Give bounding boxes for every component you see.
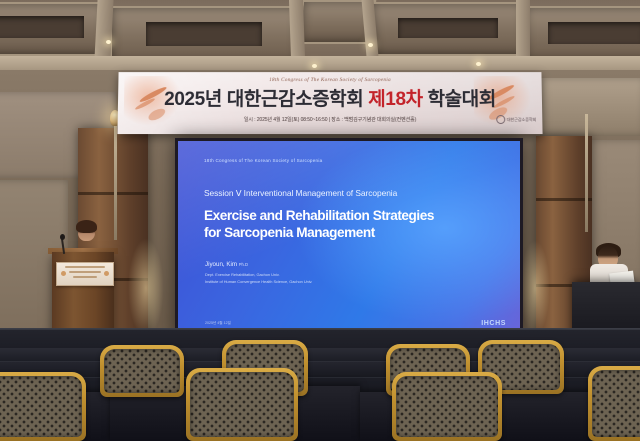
podium-sign [56,262,114,286]
chair [100,345,184,397]
banner-title-part1: 2025년 대한근감소증학회 [164,89,368,110]
chair [186,368,298,441]
presenter-degree: Ph.D [239,262,248,267]
speaker-hair [76,220,97,233]
banner-english-line: 18th Congress of The Korean Society of S… [118,77,541,83]
presenter-name: Jiyoun, Kim [205,261,237,268]
chair [392,372,502,441]
society-logo-label: 대한근감소증학회 [507,117,537,123]
conference-hall-photo: 18th Congress of The Korean Society of S… [0,0,640,441]
slide-title-line1: Exercise and Rehabilitation Strategies [204,207,502,224]
brochure-box [0,214,8,244]
presenter-affiliation-1: Dept. Exercise Rehabilitation, Gachon Un… [205,272,280,277]
projection-screen: 18th Congress of The Korean Society of S… [178,141,520,335]
event-banner: 18th Congress of The Korean Society of S… [117,72,542,134]
banner-title-highlight: 제18차 [368,89,427,110]
ceiling-downlight [476,62,481,66]
ceiling [0,0,640,74]
chair [0,372,86,441]
microphone-head [60,234,65,240]
ceiling-downlight [368,43,373,47]
sconce-pole [114,120,117,240]
slide-brand-logo: IHCHS [481,320,506,327]
presenter-affiliation-2: Institute of Human Convergence Health Sc… [205,279,312,284]
slide-header: 18th Congress of The Korean Society of S… [204,158,322,163]
slide-title: Exercise and Rehabilitation Strategies f… [204,207,502,242]
slide-session-label: Session Ⅴ Interventional Management of S… [204,188,397,198]
sconce-pole-right [585,114,588,232]
paper-stack [0,337,30,349]
society-logo: 대한근감소증학회 [496,115,537,124]
slide-title-line2: for Sarcopenia Management [204,224,502,241]
wall-glow-right [520,240,550,336]
slide-footer-note: 2025년 4월 12일 [205,321,231,326]
banner-subtitle: 일시 : 2025년 4월 12일(토) 08:50~16:50 | 장소 : … [118,116,543,123]
society-logo-mark [496,115,505,124]
banner-title: 2025년 대한근감소증학회 제18차 학술대회 [118,84,542,111]
ceiling-downlight [106,40,111,44]
banner-title-part2: 학술대회 [427,89,496,110]
wall-glow-left [128,238,164,338]
slide-presenter: Jiyoun, Kim Ph.D [205,261,248,268]
ceiling-downlight [312,64,317,68]
chair [588,366,640,441]
wall-panel-right-upper [540,78,640,136]
